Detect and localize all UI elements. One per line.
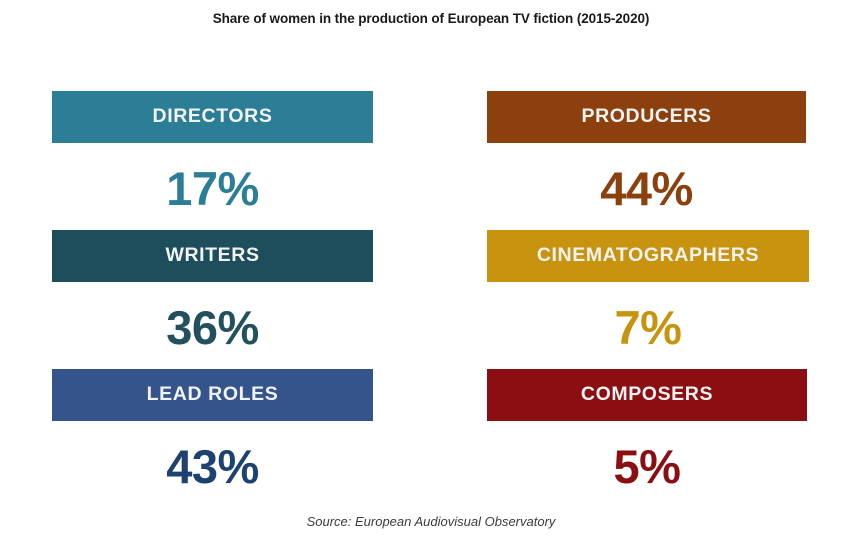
card-header-bar-writers: WRITERS bbox=[52, 230, 373, 282]
stat-card-writers: WRITERS 36% bbox=[52, 230, 373, 351]
card-label-writers: WRITERS bbox=[165, 246, 259, 266]
card-label-directors: DIRECTORS bbox=[153, 107, 273, 127]
card-label-cinematographers: CINEMATOGRAPHERS bbox=[537, 246, 759, 266]
card-value-cinematographers: 7% bbox=[487, 304, 809, 351]
card-value-producers: 44% bbox=[487, 165, 806, 212]
card-header-bar-producers: PRODUCERS bbox=[487, 91, 806, 143]
infographic-canvas: Share of women in the production of Euro… bbox=[0, 0, 862, 537]
stat-card-directors: DIRECTORS 17% bbox=[52, 91, 373, 212]
stat-card-cinematographers: CINEMATOGRAPHERS 7% bbox=[487, 230, 809, 351]
card-header-bar-lead-roles: LEAD ROLES bbox=[52, 369, 373, 421]
card-label-lead-roles: LEAD ROLES bbox=[147, 385, 279, 405]
card-label-composers: COMPOSERS bbox=[581, 385, 713, 405]
card-value-writers: 36% bbox=[52, 304, 373, 351]
card-value-lead-roles: 43% bbox=[52, 443, 373, 490]
card-label-producers: PRODUCERS bbox=[582, 107, 712, 127]
stat-card-producers: PRODUCERS 44% bbox=[487, 91, 806, 212]
chart-title: Share of women in the production of Euro… bbox=[0, 11, 862, 26]
card-value-composers: 5% bbox=[487, 443, 807, 490]
stat-card-lead-roles: LEAD ROLES 43% bbox=[52, 369, 373, 490]
card-header-bar-composers: COMPOSERS bbox=[487, 369, 807, 421]
card-header-bar-cinematographers: CINEMATOGRAPHERS bbox=[487, 230, 809, 282]
source-note: Source: European Audiovisual Observatory bbox=[0, 514, 862, 529]
card-header-bar-directors: DIRECTORS bbox=[52, 91, 373, 143]
card-value-directors: 17% bbox=[52, 165, 373, 212]
stat-card-composers: COMPOSERS 5% bbox=[487, 369, 807, 490]
